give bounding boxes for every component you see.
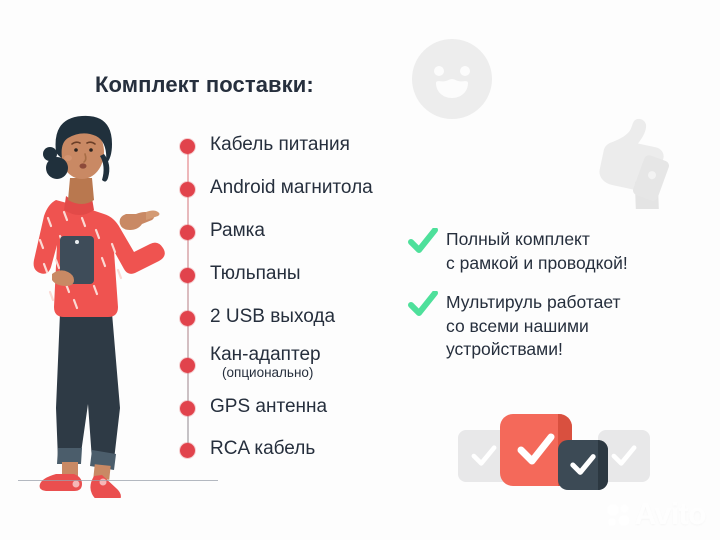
list-item-label: Android магнитола bbox=[210, 175, 373, 201]
list-item-label: 2 USB выхода bbox=[210, 304, 335, 330]
bullet-dot bbox=[180, 443, 195, 458]
list-item-label: GPS антенна bbox=[210, 394, 327, 420]
bullet-dot bbox=[180, 401, 195, 416]
feature-item: Полный комплект с рамкой и проводкой! bbox=[408, 228, 708, 275]
list-item-label: Рамка bbox=[210, 218, 265, 244]
check-icon bbox=[408, 228, 438, 256]
list-item-note: (опционально) bbox=[222, 364, 313, 382]
promo-banner: Комплект поставки: Кабель питания Androi… bbox=[0, 0, 720, 540]
avito-watermark: Avito bbox=[606, 500, 706, 530]
list-item-label: Кабель питания bbox=[210, 132, 350, 158]
feature-text: Полный комплект с рамкой и проводкой! bbox=[446, 229, 628, 273]
bullet-dot bbox=[180, 225, 195, 240]
checkbox-slate bbox=[558, 440, 608, 490]
avito-wordmark: Avito bbox=[635, 500, 706, 530]
check-icon bbox=[408, 291, 438, 319]
ground-line bbox=[18, 480, 218, 481]
feature-list: Полный комплект с рамкой и проводкой! Му… bbox=[408, 228, 708, 378]
feature-text: Мультируль работает со всеми нашими устр… bbox=[446, 292, 621, 359]
kit-list: Кабель питания Android магнитола Рамка Т… bbox=[176, 132, 436, 462]
thumbs-up-icon bbox=[578, 113, 670, 209]
smiley-face-icon bbox=[408, 35, 496, 123]
checkbox-cluster bbox=[458, 408, 648, 494]
bullet-dot bbox=[180, 268, 195, 283]
woman-pointing-illustration bbox=[8, 108, 178, 498]
bullet-dot bbox=[180, 182, 195, 197]
feature-item: Мультируль работает со всеми нашими устр… bbox=[408, 291, 708, 362]
bullet-dot bbox=[180, 311, 195, 326]
bullet-dot bbox=[180, 139, 195, 154]
list-item-label: RCA кабель bbox=[210, 436, 315, 462]
list-item-label: Тюльпаны bbox=[210, 261, 301, 287]
bullet-dot bbox=[180, 358, 195, 373]
page-title: Комплект поставки: bbox=[95, 72, 314, 98]
avito-logo-icon bbox=[606, 502, 632, 528]
